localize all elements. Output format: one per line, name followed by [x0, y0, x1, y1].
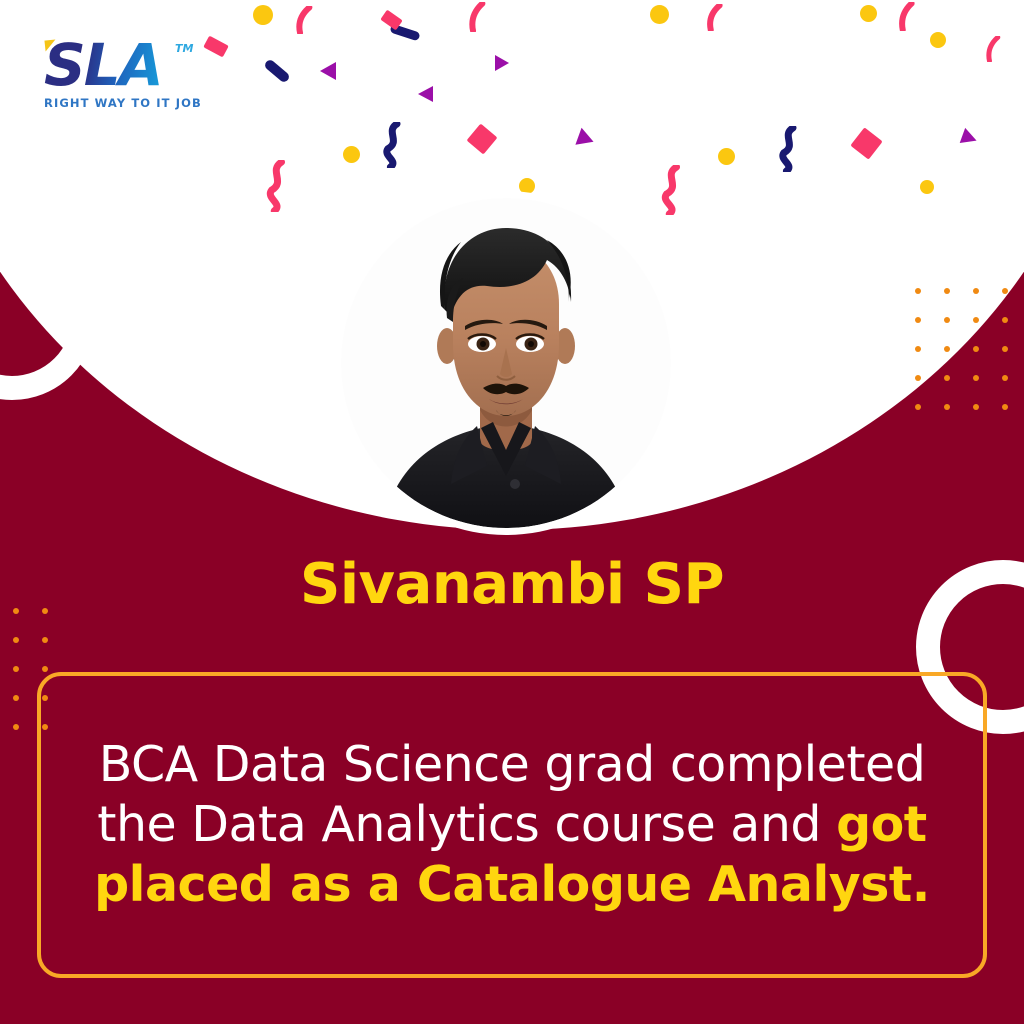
grid-dot: [973, 375, 979, 381]
page-title: Sivanambi SP: [0, 552, 1024, 617]
testimonial-normal-text: BCA Data Science grad completed the Data…: [97, 736, 925, 853]
testimonial-poster: SLA TM RIGHT WAY TO IT JOB: [0, 0, 1024, 1024]
avatar: [341, 198, 671, 528]
testimonial-box: BCA Data Science grad completed the Data…: [37, 672, 987, 978]
grid-dot: [973, 346, 979, 352]
dot-grid-right: [915, 288, 1008, 410]
grid-dot: [915, 346, 921, 352]
grid-dot: [1002, 404, 1008, 410]
grid-dot: [944, 317, 950, 323]
grid-dot: [944, 375, 950, 381]
testimonial-text: BCA Data Science grad completed the Data…: [41, 735, 983, 914]
grid-dot: [1002, 288, 1008, 294]
grid-dot: [1002, 317, 1008, 323]
logo-tick-icon: [44, 39, 56, 51]
grid-dot: [915, 404, 921, 410]
grid-dot: [13, 637, 19, 643]
trademark-icon: TM: [175, 44, 193, 54]
grid-dot: [973, 404, 979, 410]
grid-dot: [944, 346, 950, 352]
grid-dot: [13, 695, 19, 701]
grid-dot: [915, 375, 921, 381]
grid-dot: [915, 317, 921, 323]
grid-dot: [915, 288, 921, 294]
logo-text: SLA: [44, 31, 162, 99]
grid-dot: [944, 404, 950, 410]
brand-logo: SLA TM RIGHT WAY TO IT JOB: [44, 38, 202, 110]
grid-dot: [42, 666, 48, 672]
grid-dot: [13, 666, 19, 672]
grid-dot: [1002, 375, 1008, 381]
portrait-photo-icon: [341, 198, 671, 528]
grid-dot: [13, 724, 19, 730]
grid-dot: [42, 637, 48, 643]
grid-dot: [973, 317, 979, 323]
logo-wordmark: SLA TM: [44, 38, 162, 93]
grid-dot: [973, 288, 979, 294]
grid-dot: [944, 288, 950, 294]
grid-dot: [1002, 346, 1008, 352]
